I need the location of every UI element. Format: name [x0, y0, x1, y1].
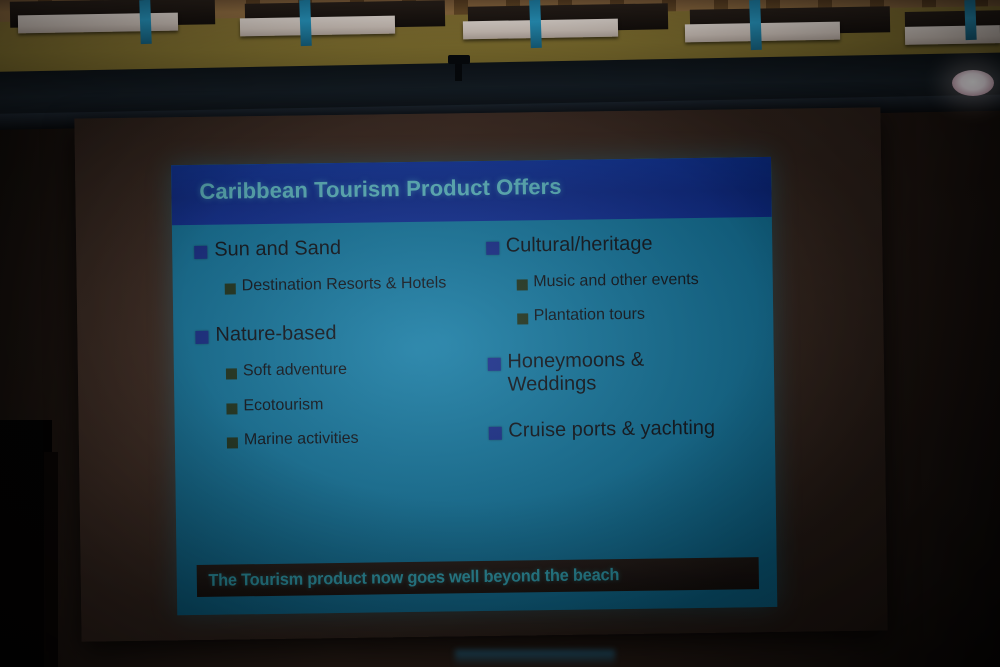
ceiling-teal-strip — [964, 0, 976, 40]
left-doorway-edge — [44, 452, 58, 667]
sub-bullet-square-icon — [226, 403, 237, 414]
bullet-cultural-heritage: Cultural/heritage — [486, 231, 773, 258]
sub-bullet-square-icon — [517, 314, 528, 325]
slide-footer-text: The Tourism product now goes well beyond… — [197, 565, 620, 591]
bullet-label: Sun and Sand — [214, 237, 341, 261]
bullet-square-icon — [194, 246, 207, 259]
slide-title: Caribbean Tourism Product Offers — [199, 174, 562, 205]
bullet-square-icon — [195, 331, 208, 344]
bullet-music-and-other-events: Music and other events — [486, 270, 773, 293]
ceiling-light-icon — [952, 70, 994, 96]
sub-bullet-square-icon — [227, 438, 238, 449]
sub-bullet-label: Destination Resorts & Hotels — [242, 274, 447, 296]
presentation-slide: Caribbean Tourism Product Offers Sun and… — [171, 157, 777, 615]
sub-bullet-square-icon — [516, 279, 527, 290]
ceiling-teal-strip — [139, 0, 152, 44]
ceiling-teal-strip — [299, 0, 312, 46]
bullet-plantation-tours: Plantation tours — [487, 304, 774, 327]
sub-bullet-label: Ecotourism — [243, 396, 323, 416]
bullet-square-icon — [486, 242, 499, 255]
bullet-cruise-ports-yachting: Cruise ports & yachting — [488, 416, 775, 443]
bullet-label: Cruise ports & yachting — [508, 417, 715, 442]
sub-bullet-square-icon — [226, 368, 237, 379]
ceiling-panel-light — [240, 16, 395, 37]
slide-footer-bar: The Tourism product now goes well beyond… — [197, 557, 759, 597]
sub-bullet-label: Music and other events — [533, 271, 699, 292]
bullet-honeymoons-weddings: Honeymoons & Weddings — [487, 347, 774, 396]
bullet-square-icon — [488, 427, 501, 440]
bullet-nature-based: Nature-based — [195, 321, 467, 347]
projection-screen: Caribbean Tourism Product Offers Sun and… — [74, 107, 887, 641]
bullet-label: Honeymoons & Weddings — [507, 348, 683, 396]
sub-bullet-square-icon — [225, 283, 236, 294]
slide-title-bar: Caribbean Tourism Product Offers — [171, 157, 772, 225]
bullet-soft-adventure: Soft adventure — [196, 359, 468, 382]
bullet-destination-resorts-hotels: Destination Resorts & Hotels — [195, 274, 467, 297]
ceiling-teal-strip — [529, 0, 542, 48]
ceiling-panel-light — [18, 13, 178, 34]
bullet-label: Nature-based — [215, 322, 336, 346]
device-glow — [455, 650, 615, 666]
slide-left-column: Sun and Sand Destination Resorts & Hotel… — [172, 221, 470, 555]
bullet-square-icon — [487, 358, 500, 371]
bullet-sun-and-sand: Sun and Sand — [194, 235, 466, 261]
slide-body: Sun and Sand Destination Resorts & Hotel… — [172, 217, 777, 555]
conference-room-scene: Caribbean Tourism Product Offers Sun and… — [0, 0, 1000, 667]
sub-bullet-label: Marine activities — [244, 430, 359, 450]
ceiling-panel-light — [905, 25, 1000, 45]
ceiling-panel-light — [685, 22, 840, 43]
bullet-ecotourism: Ecotourism — [196, 394, 468, 417]
slide-right-column: Cultural/heritage Music and other events… — [465, 217, 776, 551]
sub-bullet-label: Plantation tours — [534, 306, 645, 326]
screen-mount-bracket-icon — [448, 55, 470, 81]
ceiling-teal-strip — [749, 0, 762, 50]
sub-bullet-label: Soft adventure — [243, 361, 347, 381]
bullet-label: Cultural/heritage — [506, 233, 653, 258]
bullet-marine-activities: Marine activities — [197, 429, 469, 452]
